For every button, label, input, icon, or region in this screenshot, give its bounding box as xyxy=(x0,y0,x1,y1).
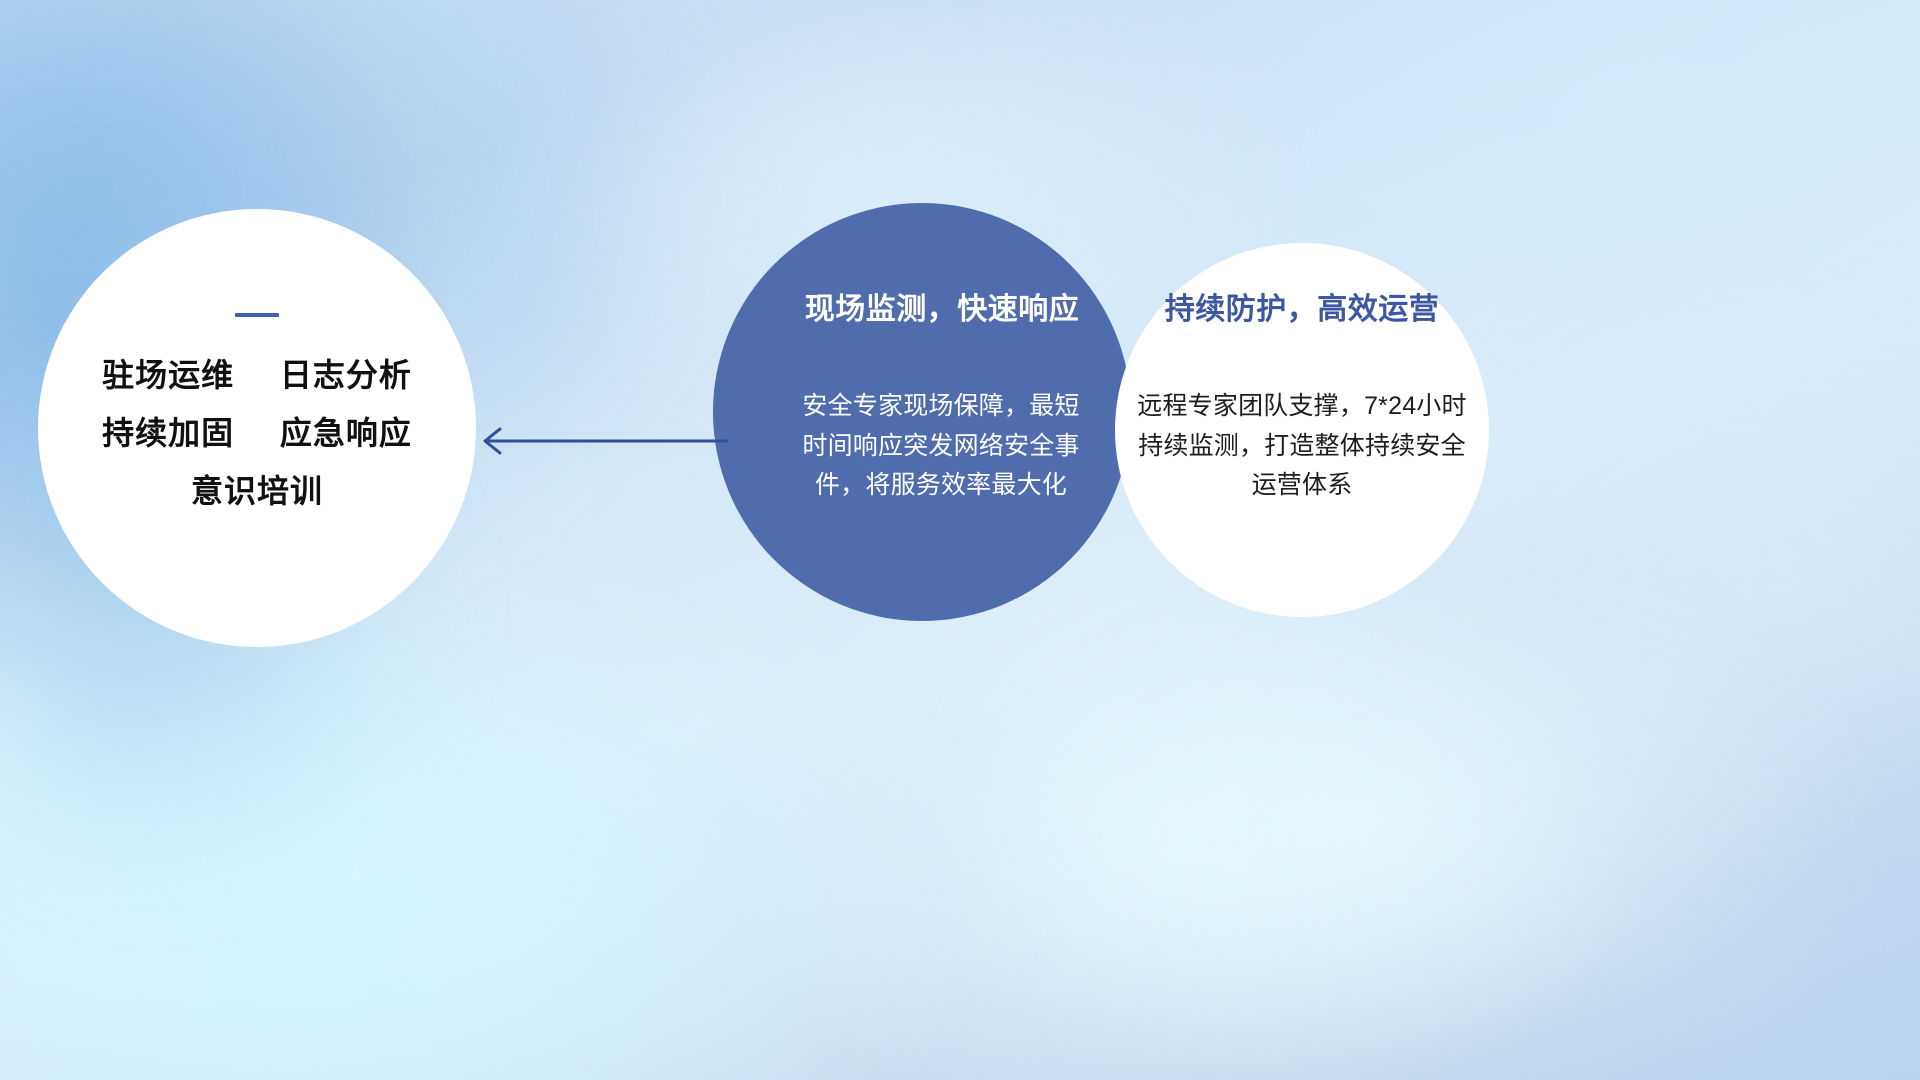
list-item: 持续加固 应急响应 xyxy=(102,417,412,449)
list-item: 驻场运维 日志分析 xyxy=(102,359,412,391)
accent-dash-icon xyxy=(235,313,279,317)
middle-circle-body: 安全专家现场保障，最短时间响应突发网络安全事件，将服务效率最大化 xyxy=(791,387,1091,506)
right-circle-title: 持续防护，高效运营 xyxy=(1165,295,1440,325)
service-tag: 驻场运维 xyxy=(102,357,234,393)
service-tag: 应急响应 xyxy=(280,415,412,451)
service-tag: 持续加固 xyxy=(102,415,234,451)
service-tag: 日志分析 xyxy=(280,357,412,393)
right-circle-content: 持续防护，高效运营 远程专家团队支撑，7*24小时持续监测，打造整体持续安全运营… xyxy=(1115,243,1489,617)
middle-circle-content: 现场监测，快速响应 安全专家现场保障，最短时间响应突发网络安全事件，将服务效率最… xyxy=(713,203,1131,621)
middle-circle-title: 现场监测，快速响应 xyxy=(805,295,1080,325)
list-item: 意识培训 xyxy=(191,475,323,507)
left-circle-service-list: 驻场运维 日志分析 持续加固 应急响应 意识培训 xyxy=(102,359,412,507)
background-glow-bottom-right xyxy=(980,600,1880,1080)
right-circle-body: 远程专家团队支撑，7*24小时持续监测，打造整体持续安全运营体系 xyxy=(1128,387,1476,506)
left-circle-content: 驻场运维 日志分析 持续加固 应急响应 意识培训 xyxy=(38,209,476,647)
service-tag: 意识培训 xyxy=(191,473,323,509)
slide-canvas: 驻场运维 日志分析 持续加固 应急响应 意识培训 现场监测，快速响应 安全专家现… xyxy=(0,0,1920,1080)
flow-arrow-icon xyxy=(470,418,730,464)
